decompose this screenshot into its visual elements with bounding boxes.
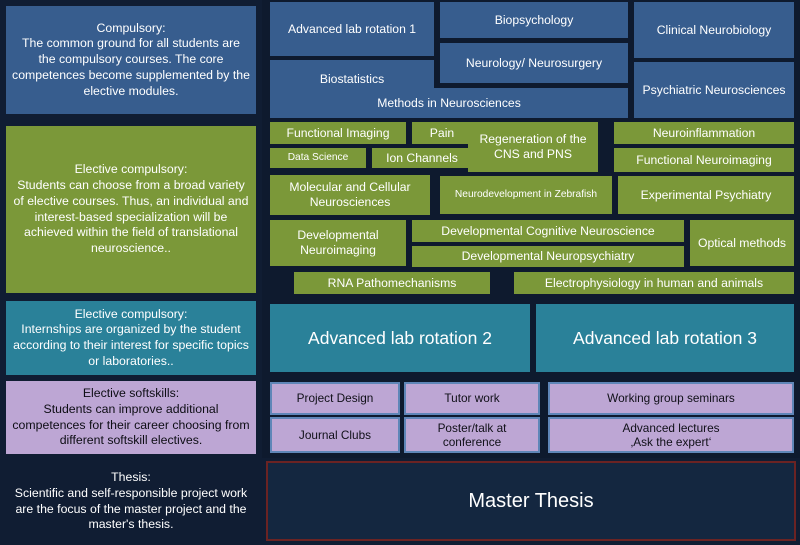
course-optical-methods[interactable]: Optical methods [690,220,794,266]
course-developmental-neuroimaging[interactable]: Developmental Neuroimaging [270,220,406,266]
panel-elective-softskills-text: Elective softskills: Students can improv… [12,386,250,449]
band-lab-rotations: Advanced lab rotation 2 Advanced lab rot… [262,300,800,378]
modules-column: Advanced lab rotation 1 Biopsychology Cl… [262,0,800,545]
panel-thesis: Thesis: Scientific and self-responsible … [6,462,256,541]
course-pain[interactable]: Pain [412,122,472,144]
course-electrophysiology-human-animals[interactable]: Electrophysiology in human and animals [514,272,794,294]
course-functional-imaging[interactable]: Functional Imaging [270,122,406,144]
course-methods-in-neurosciences[interactable]: Methods in Neurosciences [270,88,628,118]
panel-elective-compulsory-internships: Elective compulsory: Internships are org… [6,301,256,375]
softskill-journal-clubs[interactable]: Journal Clubs [270,417,400,453]
course-neurodevelopment-in-zebrafish[interactable]: Neurodevelopment in Zebrafish [440,176,612,214]
softskill-project-design[interactable]: Project Design [270,382,400,415]
panel-elective-softskills: Elective softskills: Students can improv… [6,381,256,454]
master-thesis-box[interactable]: Master Thesis [266,461,796,541]
course-advanced-lab-rotation-2[interactable]: Advanced lab rotation 2 [270,304,530,372]
description-column: Compulsory: The common ground for all st… [0,0,262,545]
panel-compulsory-text: Compulsory: The common ground for all st… [12,21,250,100]
course-rna-pathomechanisms[interactable]: RNA Pathomechanisms [294,272,490,294]
course-regeneration-cns-pns[interactable]: Regeneration of the CNS and PNS [468,122,598,172]
course-ion-channels[interactable]: Ion Channels [372,148,472,168]
course-developmental-neuropsychiatry[interactable]: Developmental Neuropsychiatry [412,246,684,267]
course-biopsychology[interactable]: Biopsychology [440,2,628,38]
panel-compulsory: Compulsory: The common ground for all st… [6,6,256,114]
softskill-tutor-work[interactable]: Tutor work [404,382,540,415]
band-softskills: Project Design Tutor work Working group … [262,378,800,458]
softskill-working-group-seminars[interactable]: Working group seminars [548,382,794,415]
course-clinical-neurobiology[interactable]: Clinical Neurobiology [634,2,794,58]
course-neuroinflammation[interactable]: Neuroinflammation [614,122,794,144]
course-developmental-cognitive-neuroscience[interactable]: Developmental Cognitive Neuroscience [412,220,684,242]
course-neurology-neurosurgery[interactable]: Neurology/ Neurosurgery [440,43,628,83]
course-data-science[interactable]: Data Science [270,148,366,168]
panel-elective-compulsory-internships-text: Elective compulsory: Internships are org… [12,307,250,370]
band-thesis: Master Thesis [262,458,800,545]
band-elective: Functional Imaging Pain Regeneration of … [262,120,800,300]
panel-thesis-text: Thesis: Scientific and self-responsible … [12,470,250,533]
softskill-poster-talk-at-conference[interactable]: Poster/talk at conference [404,417,540,453]
band-compulsory: Advanced lab rotation 1 Biopsychology Cl… [262,0,800,120]
course-advanced-lab-rotation-3[interactable]: Advanced lab rotation 3 [536,304,794,372]
course-functional-neuroimaging[interactable]: Functional Neuroimaging [614,148,794,172]
course-molecular-cellular-neurosciences[interactable]: Molecular and Cellular Neurosciences [270,175,430,215]
course-experimental-psychiatry[interactable]: Experimental Psychiatry [618,176,794,214]
softskill-advanced-lectures-ask-the-expert[interactable]: Advanced lectures ‚Ask the expert‘ [548,417,794,453]
panel-elective-compulsory-courses-text: Elective compulsory: Students can choose… [12,162,250,256]
panel-elective-compulsory-courses: Elective compulsory: Students can choose… [6,126,256,293]
curriculum-diagram: Compulsory: The common ground for all st… [0,0,800,545]
course-psychiatric-neurosciences[interactable]: Psychiatric Neurosciences [634,62,794,118]
course-advanced-lab-rotation-1[interactable]: Advanced lab rotation 1 [270,2,434,56]
